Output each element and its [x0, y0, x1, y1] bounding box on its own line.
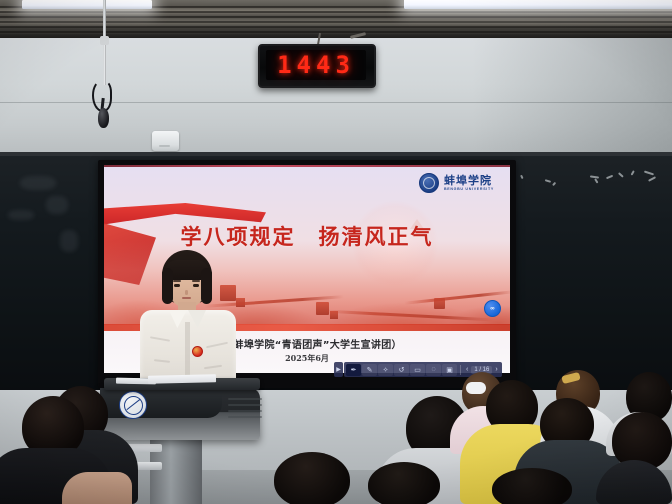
ppt-toolbar-divider [460, 365, 461, 375]
podium-paper-right [148, 374, 216, 383]
microphone-icon [98, 108, 109, 128]
wall-sensor-box [152, 131, 179, 151]
ppt-pen-tool[interactable]: ✎ [362, 364, 377, 376]
audience-head [368, 462, 440, 504]
audience-head [274, 452, 350, 504]
bengbu-university-emblem-icon [119, 391, 147, 419]
presenter-hair-left [162, 268, 173, 304]
ceiling-light-right [404, 0, 672, 9]
audience-head [492, 468, 572, 504]
classroom-scene: 1443 [0, 0, 672, 504]
university-name-en: BENGBU UNIVERSITY [444, 188, 494, 192]
blue-round-badge-icon[interactable]: ∞ [484, 300, 501, 317]
hair-clip-icon [466, 382, 486, 394]
ppt-eraser-tool[interactable]: ▭ [410, 364, 425, 376]
wall-shadow [472, 38, 672, 154]
slide-university-logo: 蚌埠学院 BENGBU UNIVERSITY [419, 173, 494, 193]
presenter-party-pin-icon [192, 346, 203, 357]
presenter-hair-right [201, 268, 212, 304]
ppt-prev-slide-button[interactable]: ‹ [464, 366, 470, 373]
clock-face: 1443 [266, 50, 366, 80]
ppt-spotlight-tool[interactable]: ◌ [426, 364, 441, 376]
clock-time: 1443 [266, 50, 366, 80]
slide-wall-tower-2 [316, 302, 329, 315]
microphone-joint [100, 36, 109, 45]
presenter-mouth [182, 297, 191, 299]
ceiling-light-left [22, 0, 152, 9]
wall-digital-clock: 1443 [258, 44, 376, 88]
presenter-student [136, 250, 240, 395]
ppt-pointer-tool[interactable]: ✒ [346, 364, 361, 376]
ppt-undo-tool[interactable]: ↺ [394, 364, 409, 376]
microphone-rod-lower [103, 45, 106, 85]
presenter-nose [185, 290, 188, 295]
ppt-start-button[interactable]: ▶ [334, 362, 343, 377]
university-name-cn: 蚌埠学院 [444, 175, 494, 186]
ppt-next-slide-button[interactable]: › [493, 366, 499, 373]
ppt-blackscreen-tool[interactable]: ▣ [442, 364, 457, 376]
university-seal-icon [419, 173, 439, 193]
ppt-highlighter-tool[interactable]: ✧ [378, 364, 393, 376]
blackboard-frame [0, 152, 672, 156]
slide-title: 学八项规定 扬清风正气 [104, 221, 510, 251]
audience-arm [62, 472, 132, 504]
sensor-led [159, 145, 170, 147]
